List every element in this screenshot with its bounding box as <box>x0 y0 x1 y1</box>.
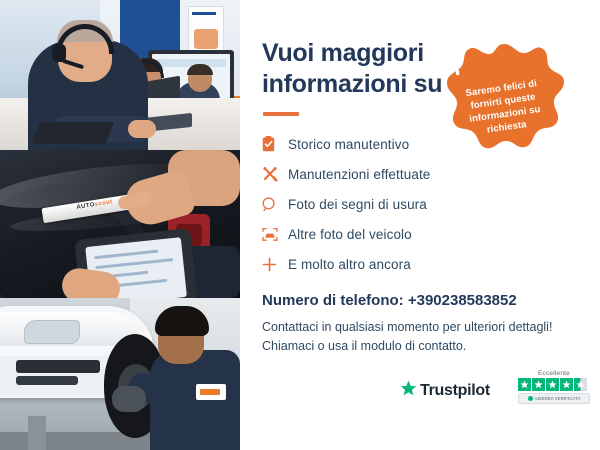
trustpilot-star-icon <box>400 380 417 402</box>
mechanic-uniform-badge <box>196 384 226 400</box>
verified-badge: AZIENDA VERIFICATA <box>518 393 590 404</box>
tablet-text-line <box>95 258 173 269</box>
poster-header-bar <box>192 12 216 15</box>
car-lift-column <box>28 416 46 450</box>
mechanic-glove <box>112 386 146 412</box>
verified-check-icon <box>528 396 533 401</box>
contact-line-1: Contattaci in qualsiasi momento per ulte… <box>262 318 582 337</box>
info-panel: Vuoi maggiori informazioni su ? Saremo f… <box>240 0 600 450</box>
verified-label: AZIENDA VERIFICATA <box>535 396 581 401</box>
photo-car-frame-icon <box>262 227 288 242</box>
car-grille-upper <box>16 360 100 373</box>
list-item: E molto altro ancora <box>262 250 562 278</box>
list-item: Manutenzioni effettuate <box>262 160 562 188</box>
car-inspection-ruler-photo: AUTOscout <box>0 150 240 298</box>
list-item-label: Altre foto del veicolo <box>288 227 412 242</box>
title-divider <box>263 112 299 116</box>
list-item-label: Foto dei segni di usura <box>288 197 427 212</box>
star-rating <box>518 378 590 391</box>
list-item: Altre foto del veicolo <box>262 220 562 248</box>
star-filled <box>546 378 559 391</box>
trustpilot-wordmark: Trustpilot <box>420 382 490 400</box>
contact-text: Contattaci in qualsiasi momento per ulte… <box>262 318 582 356</box>
call-center-agents-photo <box>0 0 240 150</box>
feature-list: Storico manutentivo Manutenzioni effettu… <box>262 130 562 280</box>
list-item-label: Storico manutentivo <box>288 137 409 152</box>
clipboard-check-icon <box>262 136 288 152</box>
phone-label: Numero di telefono: <box>262 292 404 309</box>
foreground-agent-hand <box>128 120 156 138</box>
car-headlight <box>24 320 80 344</box>
star-filled <box>560 378 573 391</box>
trustpilot-logo: Trustpilot <box>400 380 490 402</box>
mechanic-hair <box>155 306 209 336</box>
contact-line-2: Chiamaci o usa il modulo di contatto. <box>262 337 582 356</box>
background-agent-2-hair <box>187 64 213 75</box>
list-item-label: Manutenzioni effettuate <box>288 167 430 182</box>
desk-tablet <box>32 122 115 144</box>
tools-cross-icon <box>262 166 288 182</box>
promo-card: AUTOscout <box>0 0 600 450</box>
rating-label: Eccellente <box>518 370 590 377</box>
phone-number[interactable]: +390238583852 <box>408 292 517 309</box>
phone-line: Numero di telefono: +390238583852 <box>262 292 517 309</box>
photo-column: AUTOscout <box>0 0 240 450</box>
tablet-text-line <box>94 250 158 260</box>
star-filled <box>518 378 531 391</box>
trustpilot-widget[interactable]: Trustpilot Eccellente AZIENDA VERIFICATA <box>400 370 590 418</box>
list-item-label: E molto altro ancora <box>288 257 411 272</box>
star-filled <box>532 378 545 391</box>
mechanic-wheel-photo <box>0 298 240 450</box>
trustpilot-rating: Eccellente AZIENDA VERIFICATA <box>518 370 590 404</box>
list-item: Foto dei segni di usura <box>262 190 562 218</box>
car-grille-lower <box>16 376 78 385</box>
plus-icon <box>262 257 288 272</box>
star-half <box>574 378 587 391</box>
list-item: Storico manutentivo <box>262 130 562 158</box>
magnifier-icon <box>262 197 288 212</box>
